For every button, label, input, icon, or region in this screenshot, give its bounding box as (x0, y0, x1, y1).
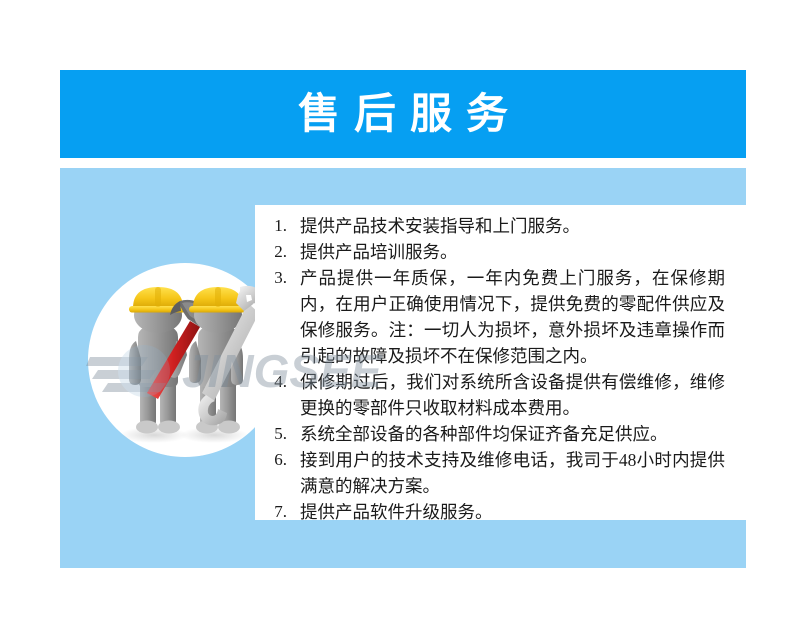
list-item: 6. 接到用户的技术支持及维修电话，我司于48小时内提供满意的解决方案。 (255, 447, 725, 499)
list-item-number: 4. (255, 369, 287, 395)
list-item: 7. 提供产品软件升级服务。 (255, 499, 725, 525)
illustration-two-workers (88, 263, 282, 457)
header-banner: 售后服务 (60, 70, 746, 158)
list-item-number: 1. (255, 213, 287, 239)
workers-icon (102, 275, 268, 447)
service-list: 1. 提供产品技术安装指导和上门服务。 2. 提供产品培训服务。 3. 产品提供… (255, 213, 725, 525)
page-root: 售后服务 (0, 0, 803, 639)
list-item-text: 接到用户的技术支持及维修电话，我司于48小时内提供满意的解决方案。 (300, 447, 725, 499)
list-item-number: 5. (255, 421, 287, 447)
list-item: 4. 保修期过后，我们对系统所含设备提供有偿维修，维修更换的零部件只收取材料成本… (255, 369, 725, 421)
list-item-text: 产品提供一年质保，一年内免费上门服务，在保修期内，在用户正确使用情况下，提供免费… (300, 265, 725, 369)
list-item-text: 保修期过后，我们对系统所含设备提供有偿维修，维修更换的零部件只收取材料成本费用。 (300, 369, 725, 421)
list-item-text: 提供产品培训服务。 (300, 239, 725, 265)
service-content-card: 1. 提供产品技术安装指导和上门服务。 2. 提供产品培训服务。 3. 产品提供… (255, 205, 746, 520)
list-item-text: 系统全部设备的各种部件均保证齐备充足供应。 (300, 421, 725, 447)
list-item: 2. 提供产品培训服务。 (255, 239, 725, 265)
list-item-number: 7. (255, 499, 287, 525)
list-item-number: 2. (255, 239, 287, 265)
list-item: 5. 系统全部设备的各种部件均保证齐备充足供应。 (255, 421, 725, 447)
list-item-text: 提供产品技术安装指导和上门服务。 (300, 213, 725, 239)
list-item-number: 6. (255, 447, 287, 473)
list-item: 1. 提供产品技术安装指导和上门服务。 (255, 213, 725, 239)
list-item-text: 提供产品软件升级服务。 (300, 499, 725, 525)
list-item-number: 3. (255, 265, 287, 291)
list-item: 3. 产品提供一年质保，一年内免费上门服务，在保修期内，在用户正确使用情况下，提… (255, 265, 725, 369)
page-title: 售后服务 (284, 93, 522, 135)
